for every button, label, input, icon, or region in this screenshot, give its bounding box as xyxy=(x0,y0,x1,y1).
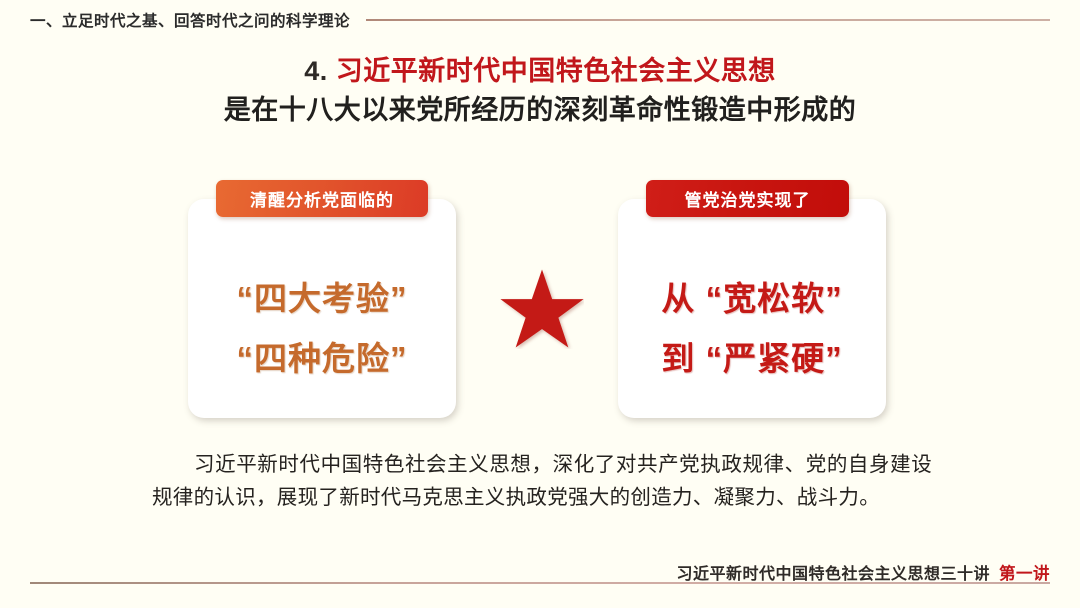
footer-lecture-number: 第一讲 xyxy=(999,560,1050,584)
title-line-1: 4. 习近平新时代中国特色社会主义思想 xyxy=(0,52,1080,90)
slide-header: 一、立足时代之基、回答时代之问的科学理论 xyxy=(0,0,1080,40)
star-icon xyxy=(500,269,584,349)
card-left: “四大考验” “四种危险” xyxy=(188,199,456,418)
title-line-2: 是在十八大以来党所经历的深刻革命性锻造中形成的 xyxy=(0,90,1080,130)
card-right-body: 从 “宽松软” 到 “严紧硬” xyxy=(618,239,886,418)
header-divider-line xyxy=(366,19,1050,21)
card-right-line-1: 从 “宽松软” xyxy=(661,280,842,318)
card-right: 从 “宽松软” 到 “严紧硬” xyxy=(618,199,886,418)
body-paragraph: 习近平新时代中国特色社会主义思想，深化了对共产党执政规律、党的自身建设规律的认识… xyxy=(152,448,932,514)
card-right-badge: 管党治党实现了 xyxy=(646,180,849,217)
section-label: 一、立足时代之基、回答时代之问的科学理论 xyxy=(30,9,350,31)
title-block: 4. 习近平新时代中国特色社会主义思想 是在十八大以来党所经历的深刻革命性锻造中… xyxy=(0,52,1080,130)
card-left-body: “四大考验” “四种危险” xyxy=(188,239,456,418)
card-left-line-2: “四种危险” xyxy=(237,340,408,378)
footer: 习近平新时代中国特色社会主义思想三十讲 第一讲 xyxy=(676,560,1050,584)
title-highlight: 习近平新时代中国特色社会主义思想 xyxy=(336,56,776,86)
title-number: 4. xyxy=(304,56,328,86)
card-left-line-1: “四大考验” xyxy=(237,280,408,318)
center-divider xyxy=(497,264,587,354)
card-right-line-2: 到 “严紧硬” xyxy=(661,340,842,378)
footer-series-title: 习近平新时代中国特色社会主义思想三十讲 xyxy=(676,560,990,584)
card-left-badge: 清醒分析党面临的 xyxy=(216,180,428,217)
